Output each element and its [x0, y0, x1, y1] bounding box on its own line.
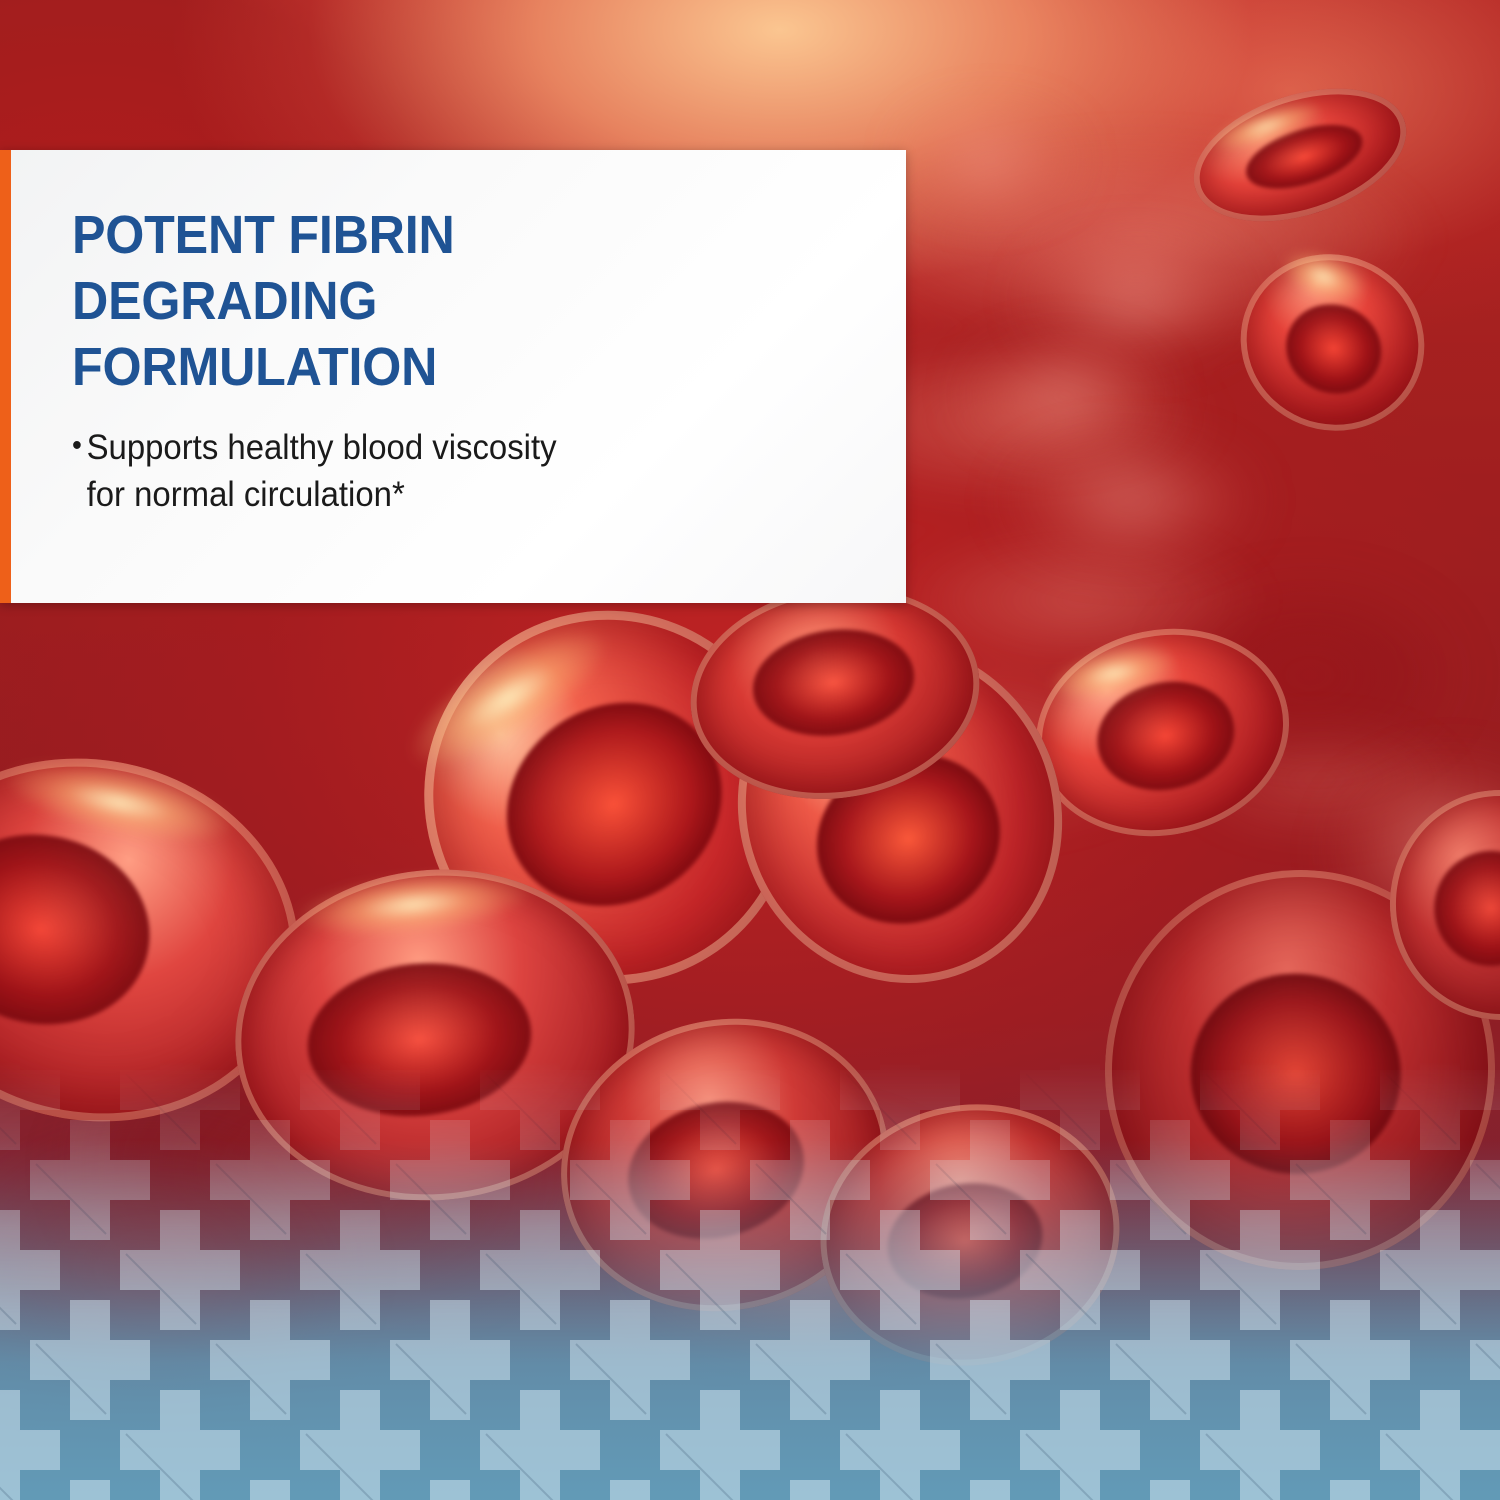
callout-panel: POTENT FIBRIN DEGRADING FORMULATION • Su…	[0, 150, 906, 603]
medical-cross-pattern	[0, 1060, 1500, 1500]
bullet-marker-icon: •	[72, 424, 82, 468]
benefit-bullet: • Supports healthy blood viscosity for n…	[72, 424, 818, 518]
blurred-blood-cell	[1000, 440, 1260, 560]
page-title: POTENT FIBRIN DEGRADING FORMULATION	[72, 202, 810, 400]
benefit-bullet-text: Supports healthy blood viscosity for nor…	[87, 424, 557, 518]
blurred-blood-cell	[900, 110, 1080, 210]
callout-panel-content: POTENT FIBRIN DEGRADING FORMULATION • Su…	[72, 202, 866, 518]
product-benefit-banner: POTENT FIBRIN DEGRADING FORMULATION • Su…	[0, 0, 1500, 1500]
orange-accent-bar	[0, 150, 11, 603]
blurred-blood-cell	[960, 340, 1170, 450]
